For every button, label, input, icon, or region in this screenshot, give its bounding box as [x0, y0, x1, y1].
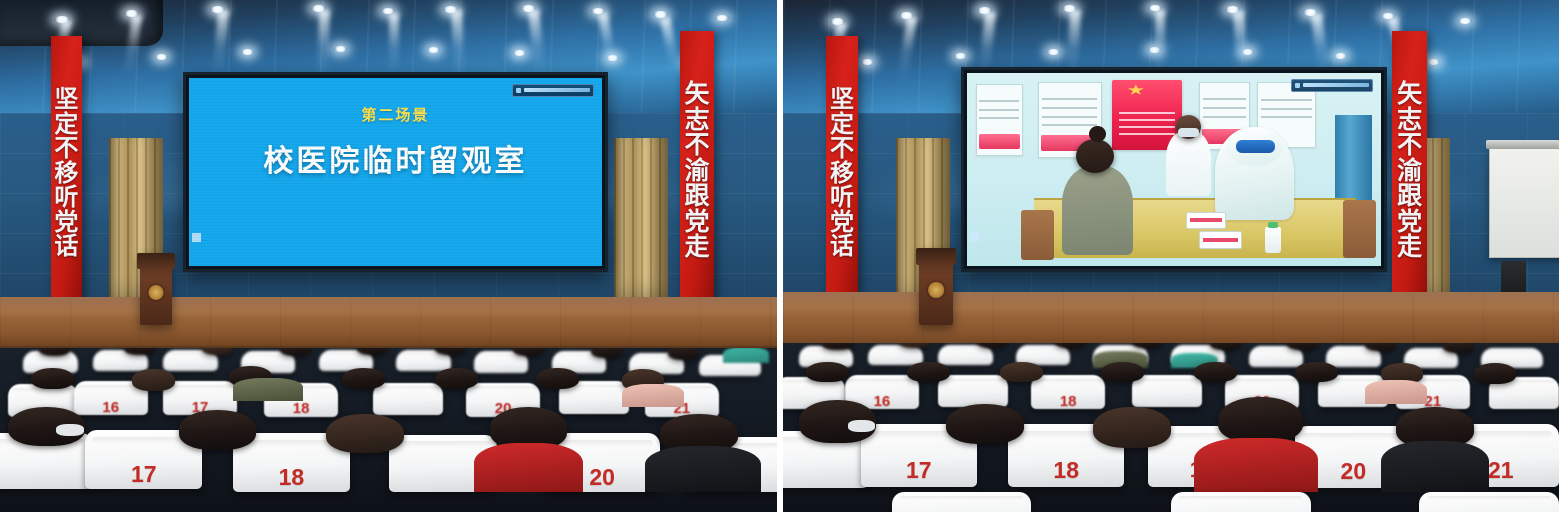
audience-head [1093, 407, 1171, 448]
video-test-kit [1186, 212, 1225, 229]
audience-head [1194, 362, 1237, 382]
player-icon [516, 88, 521, 93]
banner-char: 党 [1397, 209, 1422, 235]
video-ppe-worker [1215, 127, 1293, 220]
audience-head [31, 368, 74, 389]
audience-body [233, 378, 303, 401]
video-patient [1062, 166, 1132, 255]
poster-graphic [979, 134, 1021, 149]
chair [373, 383, 443, 416]
podium [919, 248, 953, 325]
audience-head [1295, 362, 1338, 382]
chair [892, 492, 1032, 512]
face-mask [56, 424, 84, 436]
bottle-cap [1268, 222, 1277, 228]
chair [938, 375, 1008, 407]
banner-char: 党 [684, 209, 709, 235]
banner-right: 矢 志 不 渝 跟 党 走 [680, 31, 714, 306]
audience-head [179, 410, 257, 449]
media-player-toolbar[interactable] [512, 84, 594, 97]
stage-floor [783, 292, 1559, 348]
light-beam [316, 10, 329, 78]
projection-screen-frame [961, 67, 1386, 273]
player-icon [1295, 83, 1300, 88]
media-player-toolbar[interactable] [1291, 79, 1373, 92]
audience-head [822, 343, 853, 350]
banner-char: 听 [830, 185, 854, 209]
pull-down-projection-screen [1489, 148, 1559, 258]
podium [140, 253, 173, 325]
audience-area: 16 18 20 21 [783, 343, 1559, 512]
seat-number: 16 [74, 399, 148, 416]
led-screen [967, 73, 1380, 267]
podium-top [916, 248, 956, 265]
audience-body [474, 443, 583, 492]
patient-head [1076, 139, 1114, 173]
banner-char: 坚 [54, 87, 78, 111]
audience-head [907, 362, 950, 382]
seat-number: 17 [85, 461, 202, 488]
seat-number: 17 [861, 457, 977, 484]
player-label [524, 88, 590, 92]
audience-head [799, 400, 877, 442]
audience-body [622, 384, 684, 407]
audience-body [723, 348, 770, 363]
video-chair [1343, 200, 1376, 258]
ppe-visor [1236, 140, 1275, 153]
audience-head [806, 362, 849, 382]
banner-char: 跟 [1397, 183, 1422, 209]
audience-body [645, 446, 762, 492]
audience-head [326, 414, 404, 453]
audience-head [357, 348, 388, 355]
banner-char: 矢 [684, 81, 709, 107]
stage-curtain-right [614, 138, 668, 307]
wall-poster [976, 84, 1023, 156]
audience-head [435, 368, 478, 389]
screen-roller-bar [1486, 140, 1559, 150]
audience-head [1443, 343, 1474, 353]
banner-right: 矢 志 不 渝 跟 党 走 [1392, 31, 1427, 306]
video-chair [1021, 210, 1054, 260]
test-kit-strip [1203, 238, 1238, 242]
audience-head [1218, 397, 1303, 443]
screen-corner-marker [970, 232, 979, 241]
party-emblem-icon [1127, 84, 1144, 95]
banner-char: 党 [54, 210, 78, 234]
light-beam [389, 13, 399, 75]
chair [1132, 375, 1202, 407]
seat-number: 18 [1008, 457, 1124, 484]
led-screen: 第二场景 校医院临时留观室 [189, 78, 603, 267]
banner-char: 不 [1397, 132, 1422, 158]
audience-head [202, 348, 233, 355]
ceiling-light [155, 54, 168, 60]
audience-head [124, 348, 155, 355]
right-photo: 坚 定 不 移 听 党 话 矢 志 不 渝 跟 党 走 [783, 0, 1559, 512]
audience-body [1365, 380, 1427, 404]
audience-head [536, 368, 579, 389]
face-mask [848, 420, 874, 432]
banner-char: 志 [684, 107, 709, 133]
podium-top [137, 253, 175, 269]
seat-number: 18 [233, 464, 350, 491]
banner-char: 渝 [684, 158, 709, 184]
banner-char: 矢 [1397, 81, 1422, 107]
projection-screen-frame: 第二场景 校医院临时留观室 [183, 72, 609, 273]
banner-char: 移 [830, 161, 854, 185]
podium-emblem-icon [149, 285, 164, 300]
chair: 18 [1031, 375, 1105, 409]
banner-left: 坚 定 不 移 听 党 话 [826, 36, 859, 306]
video-sanitizer-bottle [1265, 227, 1282, 252]
audience-head [342, 368, 385, 389]
banner-char: 志 [1397, 107, 1422, 133]
banner-char: 话 [830, 234, 854, 258]
banner-char: 定 [54, 112, 78, 136]
banner-char: 渝 [1397, 158, 1422, 184]
banner-char: 移 [54, 161, 78, 185]
banner-char: 走 [684, 234, 709, 260]
test-kit-strip [1190, 218, 1221, 222]
audience-head [591, 348, 622, 358]
left-photo: 第二场景 校医院临时留观室 坚 定 不 移 听 党 话 矢 志 不 渝 跟 [0, 0, 777, 512]
banner-char: 跟 [684, 183, 709, 209]
chair [1171, 492, 1311, 512]
player-label [1303, 83, 1369, 87]
slide-subtitle: 第二场景 [189, 104, 603, 125]
doctor-face-mask [1178, 128, 1200, 137]
banner-left: 坚 定 不 移 听 党 话 [51, 36, 83, 306]
ceiling-light [241, 49, 254, 55]
slide-title: 校医院临时留观室 [189, 136, 603, 180]
banner-char: 听 [54, 185, 78, 209]
banner-char: 党 [830, 210, 854, 234]
seat-number: 18 [1031, 393, 1105, 410]
video-doctor [1166, 131, 1211, 197]
banner-char: 定 [830, 112, 854, 136]
audience-head [1101, 362, 1144, 382]
chair [938, 345, 992, 365]
chair [1419, 492, 1559, 512]
audience-head [1287, 343, 1318, 350]
audience-head [1210, 343, 1241, 350]
banner-char: 话 [54, 234, 78, 258]
audience-head [8, 407, 86, 446]
photo-pair: 第二场景 校医院临时留观室 坚 定 不 移 听 党 话 矢 志 不 渝 跟 [0, 0, 1559, 512]
audience-head [1474, 363, 1517, 383]
video-test-kit [1199, 231, 1242, 248]
audience-head [132, 369, 175, 390]
banner-char: 坚 [830, 87, 854, 111]
audience-head [435, 348, 466, 355]
audience-head [946, 404, 1024, 445]
banner-char: 走 [1397, 234, 1422, 260]
audience-head [1000, 362, 1043, 382]
screen-corner-marker [192, 233, 201, 242]
audience-body [1194, 438, 1318, 492]
audience-head [668, 348, 699, 359]
banner-char: 不 [54, 136, 78, 160]
audience-area: 16 17 18 20 21 [0, 348, 777, 512]
podium-emblem-icon [928, 282, 944, 298]
banner-char: 不 [684, 132, 709, 158]
audience-body [1381, 441, 1490, 492]
banner-char: 不 [830, 136, 854, 160]
seat-number: 18 [264, 400, 338, 417]
stage-floor [0, 297, 777, 348]
